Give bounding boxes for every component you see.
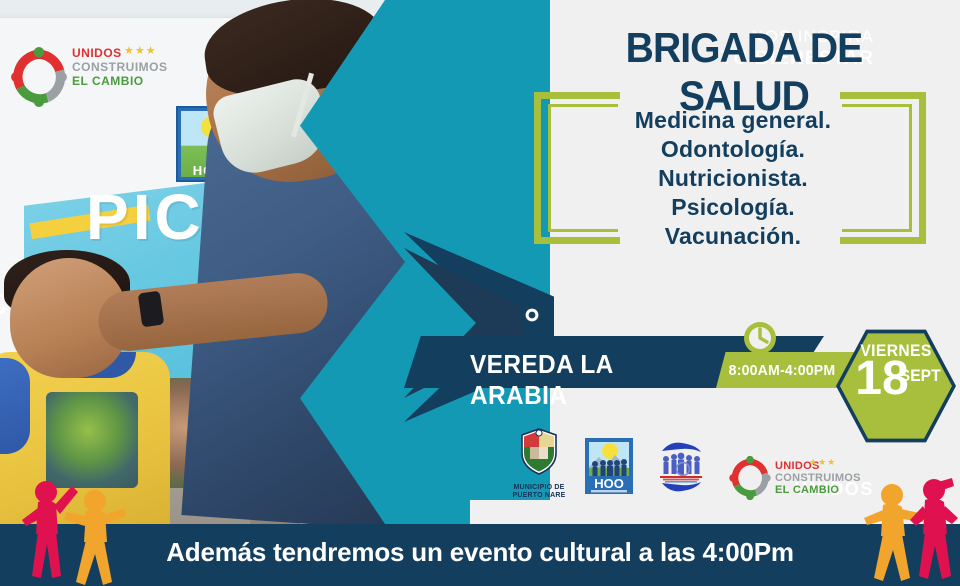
stars-icon: ★★★	[809, 457, 836, 468]
service-item: Odontología.	[548, 135, 918, 164]
date-month: SEPT	[900, 366, 941, 386]
clock-icon	[742, 320, 778, 356]
location-name: VEREDA LA ARABIA	[470, 349, 705, 411]
poster-canvas: UNIDOS CONSTRUIMOS EL CAMBIO ★★★ HOO PIC…	[0, 0, 960, 586]
dancing-figure-icon	[62, 486, 128, 586]
logo-hoo-acronym: HOO	[594, 476, 624, 491]
backdrop-brand-line3: EL CAMBIO	[72, 74, 158, 88]
gear-circle-icon	[728, 456, 772, 500]
gear-circle-icon	[8, 46, 70, 108]
caring-hands-icon	[652, 439, 710, 495]
logo-brand-line3: EL CAMBIO	[775, 484, 861, 496]
logo-caption-line1: MUNICIPIO DE	[512, 484, 566, 492]
logo-proteccion-social	[652, 439, 710, 500]
logo-brand-line2: CONSTRUIMOS	[775, 472, 861, 484]
service-item: Nutricionista.	[548, 164, 918, 193]
service-item: Medicina general.	[548, 106, 918, 135]
services-list: Medicina general. Odontología. Nutricion…	[548, 106, 918, 251]
logo-unidos-construimos: ★★★ UNIDOS CONSTRUIMOS EL CAMBIO	[728, 456, 861, 500]
backdrop-brand-logo: UNIDOS CONSTRUIMOS EL CAMBIO ★★★	[8, 40, 158, 120]
partner-logos: MUNICIPIO DE PUERTO NARE HOO	[512, 430, 852, 500]
dancing-figure-icon	[906, 474, 960, 582]
service-item: Vacunación.	[548, 222, 918, 251]
time-range: 8:00AM-4:00PM	[726, 362, 839, 379]
footer-message: Además tendremos un evento cultural a la…	[0, 537, 960, 568]
wristwatch	[138, 291, 165, 328]
stars-icon: ★★★	[124, 44, 157, 57]
service-item: Psicología.	[548, 193, 918, 222]
shield-crest-icon	[512, 427, 566, 477]
map-pin-icon	[518, 302, 546, 342]
hospital-logo-icon: HOO	[584, 437, 634, 495]
logo-caption-line2: PUERTO NARE	[512, 492, 566, 500]
logo-hoo-hospital: HOO	[584, 437, 634, 500]
logo-municipio-puerto-nare: MUNICIPIO DE PUERTO NARE	[512, 427, 566, 500]
backdrop-brand-line2: CONSTRUIMOS	[72, 60, 158, 74]
backdrop-pic-label: PIC	[86, 180, 205, 254]
